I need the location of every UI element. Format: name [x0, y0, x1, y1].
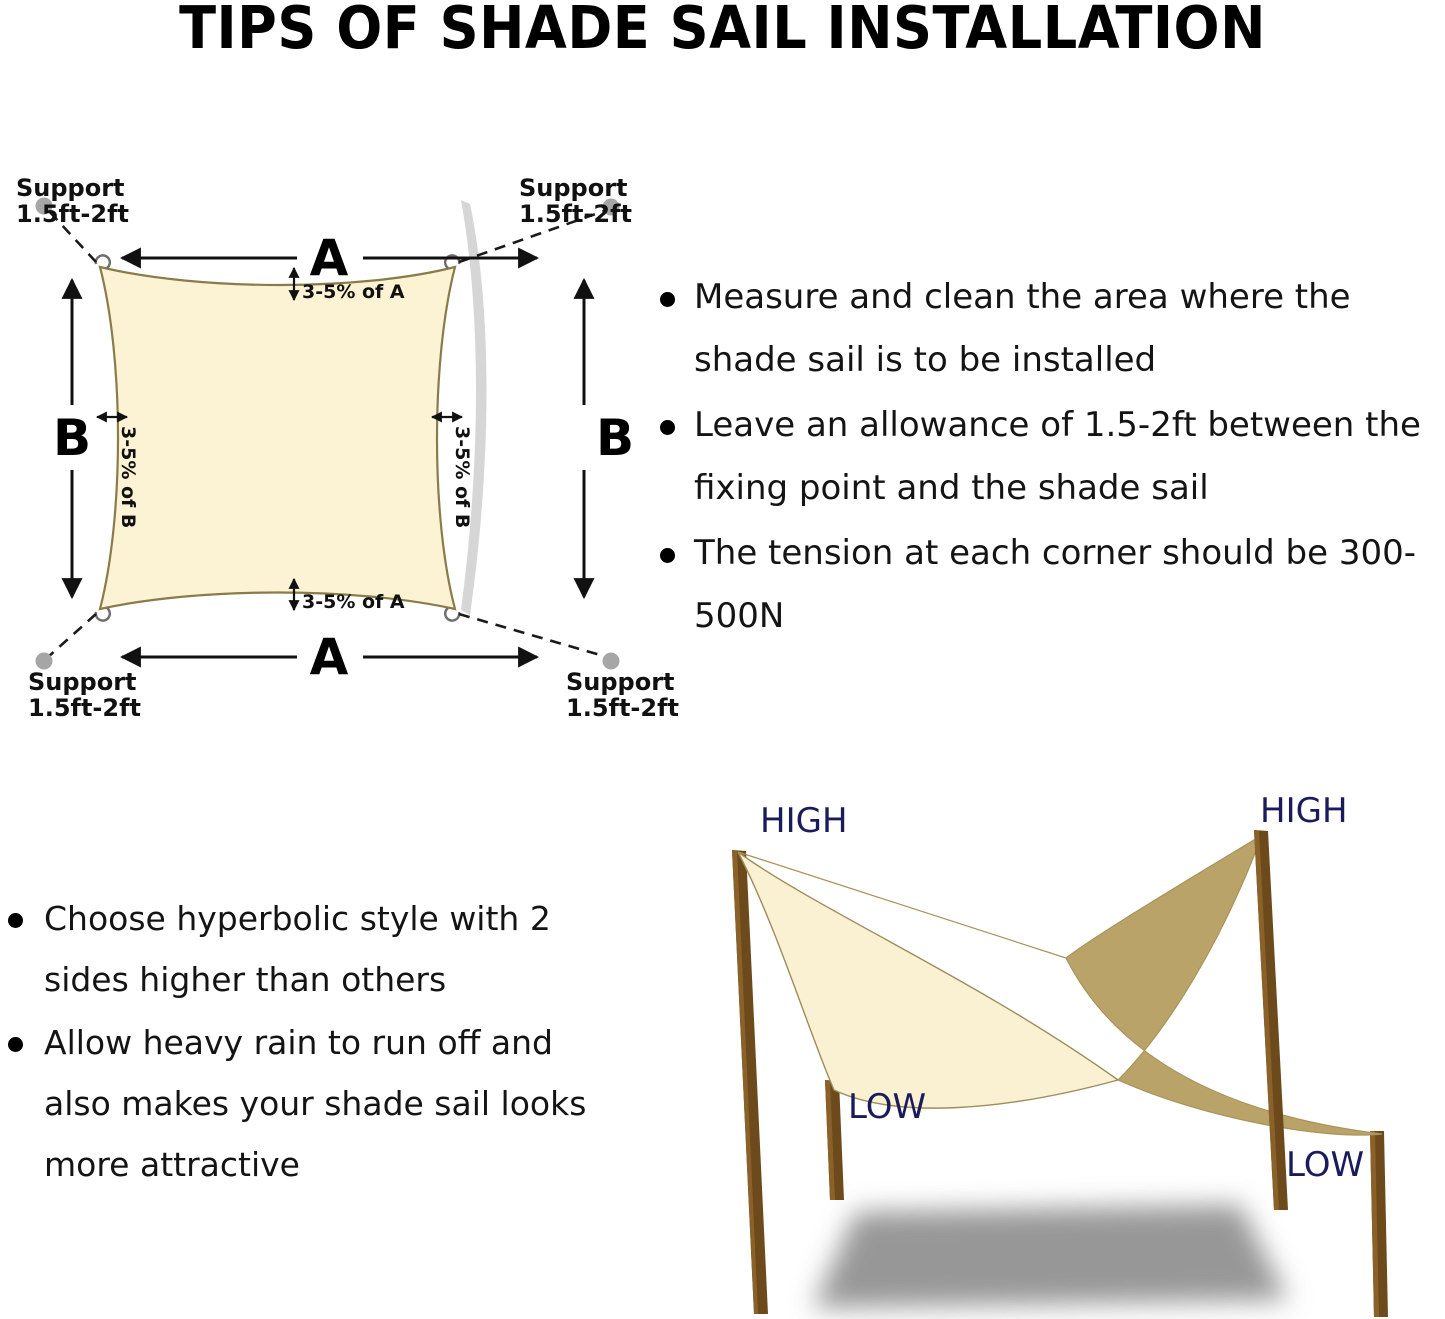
list-item: Leave an allowance of 1.5-2ft between th… [648, 394, 1445, 520]
list-item: Measure and clean the area where the sha… [648, 266, 1445, 392]
page-title: TIPS OF SHADE SAIL INSTALLATION [0, 0, 1445, 60]
list-item: Allow heavy rain to run off and also mak… [0, 1012, 625, 1195]
dimension-label-left-b: B [53, 409, 91, 467]
curve-allowance-right-label: 3-5% of B [451, 426, 473, 528]
ground-shadow [813, 1205, 1288, 1308]
support-label-bottom-left-line2: 1.5ft-2ft [28, 694, 141, 722]
hyperbolic-sail-diagram: HIGH HIGH LOW LOW [648, 780, 1445, 1319]
post-high-left [732, 850, 768, 1314]
support-line-bottom-left [36, 614, 97, 670]
support-label-top-right-line1: Support [519, 174, 628, 202]
support-label-top-right: Support 1.5ft-2ft [519, 174, 632, 228]
support-label-top-right-line2: 1.5ft-2ft [519, 200, 632, 228]
support-line-bottom-right [459, 614, 620, 670]
support-label-top-left: Support 1.5ft-2ft [16, 174, 129, 228]
support-label-bottom-right-line1: Support [566, 668, 675, 696]
curve-allowance-bottom-label: 3-5% of A [302, 591, 405, 613]
corner-grommet-bottom-right [445, 608, 459, 621]
post-label-low-right: LOW [1286, 1145, 1364, 1185]
post-label-low-left: LOW [848, 1087, 926, 1127]
dimension-label-bottom-a: A [310, 628, 349, 686]
tips-list: Choose hyperbolic style with 2 sides hig… [0, 888, 625, 1195]
support-label-top-left-line2: 1.5ft-2ft [16, 200, 129, 228]
support-label-bottom-right-line2: 1.5ft-2ft [566, 694, 679, 722]
sail-panel-front [738, 852, 1118, 1108]
installation-tips-list-bottom: Choose hyperbolic style with 2 sides hig… [0, 888, 625, 1197]
support-label-bottom-left-line1: Support [28, 668, 137, 696]
dimension-label-right-b: B [596, 409, 634, 467]
curve-allowance-left: 3-5% of B [97, 417, 139, 528]
list-item: Choose hyperbolic style with 2 sides hig… [0, 888, 625, 1010]
post-label-high-right: HIGH [1260, 791, 1348, 831]
tips-list: Measure and clean the area where the sha… [648, 266, 1445, 648]
post-low-left [825, 1080, 844, 1200]
shade-sail-shape [100, 267, 455, 609]
support-label-bottom-left: Support 1.5ft-2ft [28, 668, 141, 722]
post-low-right [1370, 1131, 1388, 1317]
curve-allowance-left-label: 3-5% of B [117, 426, 139, 528]
list-item: The tension at each corner should be 300… [648, 522, 1445, 648]
corner-grommet-top-left [96, 255, 110, 268]
sail-drop-shadow [461, 200, 487, 615]
curve-allowance-top-label: 3-5% of A [302, 281, 405, 303]
corner-grommet-bottom-left [96, 608, 110, 621]
post-high-right [1254, 830, 1288, 1210]
support-label-top-left-line1: Support [16, 174, 125, 202]
dimension-label-top-a: A [310, 229, 349, 287]
rectangular-sail-diagram: A A B B 3-5% of A 3-5% of A [0, 160, 645, 740]
post-label-high-left: HIGH [760, 801, 848, 841]
support-label-bottom-right: Support 1.5ft-2ft [566, 668, 679, 722]
installation-tips-list-top: Measure and clean the area where the sha… [648, 266, 1445, 650]
